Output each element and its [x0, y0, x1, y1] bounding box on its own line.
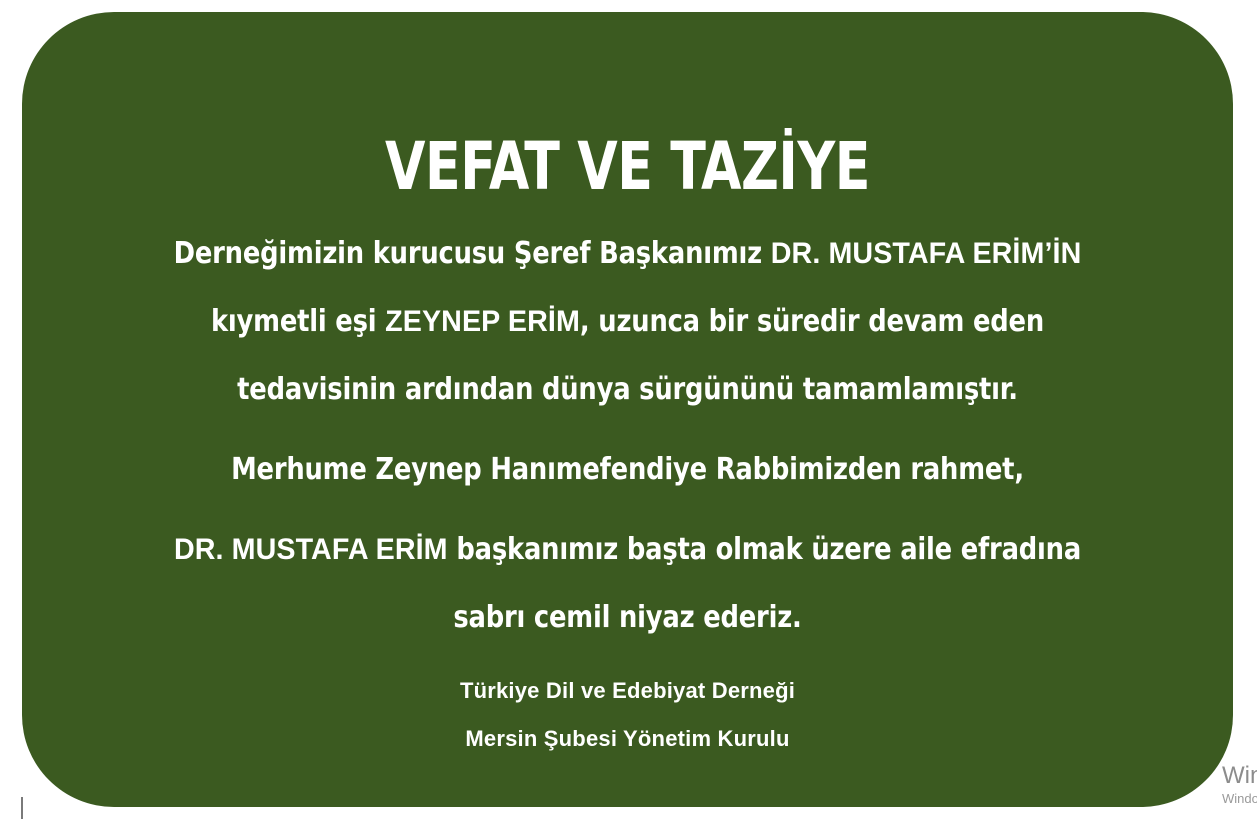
emphasised-name: DR. MUSTAFA ERİM	[174, 533, 448, 566]
notice-text-run: kıymetli eşi	[211, 304, 385, 339]
notice-line: DR. MUSTAFA ERİM başkanımız başta olmak …	[87, 516, 1167, 584]
notice-line: Derneğimizin kurucusu Şeref Başkanımız D…	[87, 220, 1167, 288]
emphasised-name: DR. MUSTAFA ERİM’İN	[771, 237, 1082, 270]
notice-line: kıymetli eşi ZEYNEP ERİM, uzunca bir sür…	[87, 288, 1167, 356]
signature-line: Türkiye Dil ve Edebiyat Derneği	[22, 667, 1233, 715]
signature-line: Mersin Şubesi Yönetim Kurulu	[22, 715, 1233, 763]
notice-text-run: Derneğimizin kurucusu Şeref Başkanımız	[174, 236, 771, 271]
text-caret[interactable]	[21, 797, 23, 819]
announcement-card: VEFAT VE TAZİYE Derneğimizin kurucusu Şe…	[22, 12, 1233, 807]
notice-text-run: Merhume Zeynep Hanımefendiye Rabbimizden…	[231, 452, 1024, 487]
page-title: VEFAT VE TAZİYE	[95, 132, 1161, 201]
signature-block: Türkiye Dil ve Edebiyat DerneğiMersin Şu…	[22, 667, 1233, 763]
notice-line: sabrı cemil niyaz ederiz.	[87, 584, 1167, 652]
notice-line: Merhume Zeynep Hanımefendiye Rabbimizden…	[87, 436, 1167, 504]
activation-watermark-subtitle: Windows	[1222, 790, 1257, 808]
notice-body: Derneğimizin kurucusu Şeref Başkanımız D…	[62, 220, 1193, 652]
notice-text-run: sabrı cemil niyaz ederiz.	[453, 600, 801, 635]
activation-watermark-title: Windows	[1222, 762, 1257, 790]
notice-text-run: başkanımız başta olmak üzere aile efradı…	[448, 532, 1081, 567]
notice-text-run: tedavisinin ardından dünya sürgününü tam…	[237, 372, 1018, 407]
notice-text-run: , uzunca bir süredir devam eden	[580, 304, 1044, 339]
notice-line: tedavisinin ardından dünya sürgününü tam…	[87, 356, 1167, 424]
windows-activation-watermark: Windows Windows	[1222, 762, 1257, 808]
emphasised-name: ZEYNEP ERİM	[385, 305, 580, 338]
